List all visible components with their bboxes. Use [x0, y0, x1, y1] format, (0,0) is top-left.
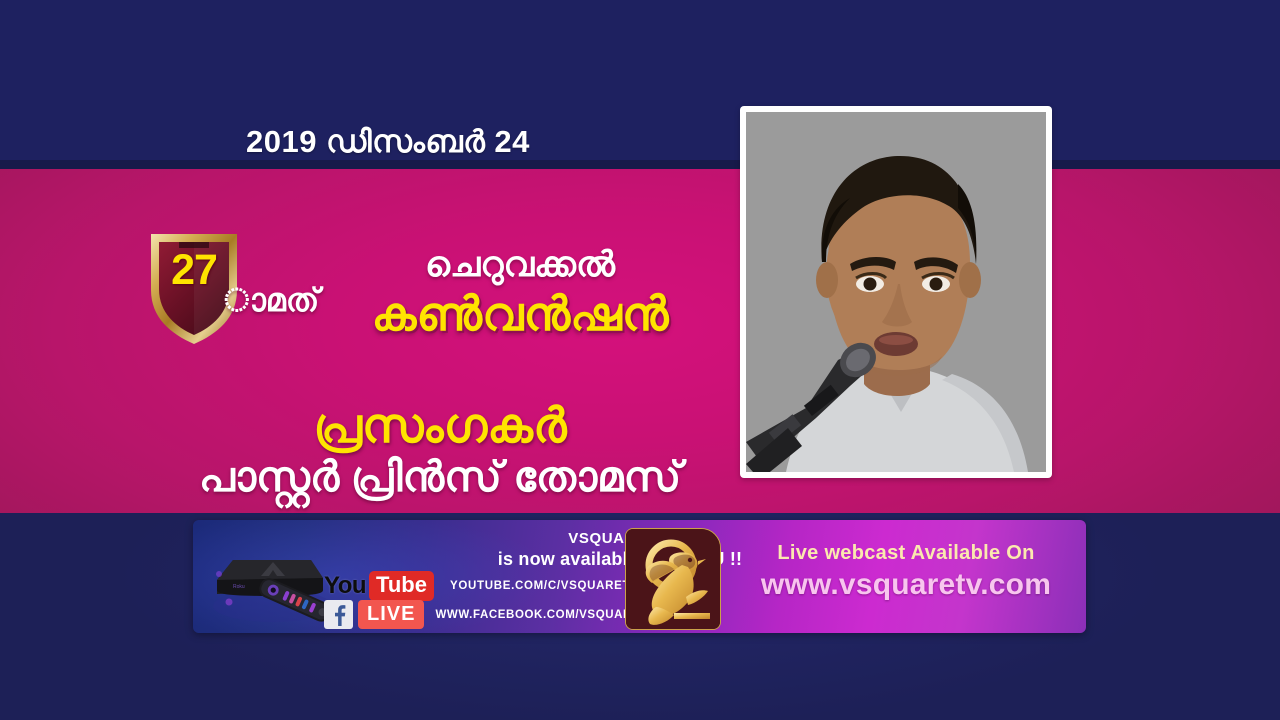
speaker-photo	[746, 112, 1046, 472]
facebook-icon[interactable]	[324, 600, 353, 629]
header-band-shade	[0, 160, 1280, 169]
speaker-label: പ്രസംഗകർ	[175, 402, 705, 452]
facebook-live-badge: LIVE	[358, 600, 424, 629]
svg-text:Roku: Roku	[233, 584, 245, 590]
youtube-logo[interactable]: You Tube	[324, 571, 434, 601]
dove-icon	[626, 529, 720, 629]
roku-box-and-remote-icon: Roku	[203, 536, 343, 626]
youtube-logo-you: You	[324, 574, 366, 598]
header-band	[0, 0, 1280, 168]
webcast-url[interactable]: www.vsquaretv.com	[741, 568, 1071, 602]
youtube-logo-tube: Tube	[369, 571, 434, 601]
facebook-f-glyph	[330, 604, 348, 626]
dove-logo-card	[625, 528, 721, 630]
event-title: കൺവൻഷൻ	[330, 289, 710, 338]
webcast-label: Live webcast Available On	[741, 542, 1071, 565]
roku-device-image: Roku	[203, 536, 343, 626]
event-place: ചെറുവക്കൽ	[330, 246, 710, 285]
event-title-block: ചെറുവക്കൽ കൺവൻഷൻ	[330, 246, 710, 338]
edition-suffix: ാമത്	[224, 282, 319, 320]
speaker-photo-frame	[740, 106, 1052, 478]
promo-banner: Roku VSQUARE TV is now a	[193, 520, 1086, 633]
promo-slide: 2019 ഡിസംബർ 24	[0, 0, 1280, 720]
speaker-block: പ്രസംഗകർ പാസ്റ്റർ പ്രിൻസ് തോമസ്	[175, 402, 705, 501]
speaker-portrait-illustration	[746, 112, 1046, 472]
event-date: 2019 ഡിസംബർ 24	[246, 124, 530, 161]
speaker-name: പാസ്റ്റർ പ്രിൻസ് തോമസ്	[175, 454, 705, 500]
